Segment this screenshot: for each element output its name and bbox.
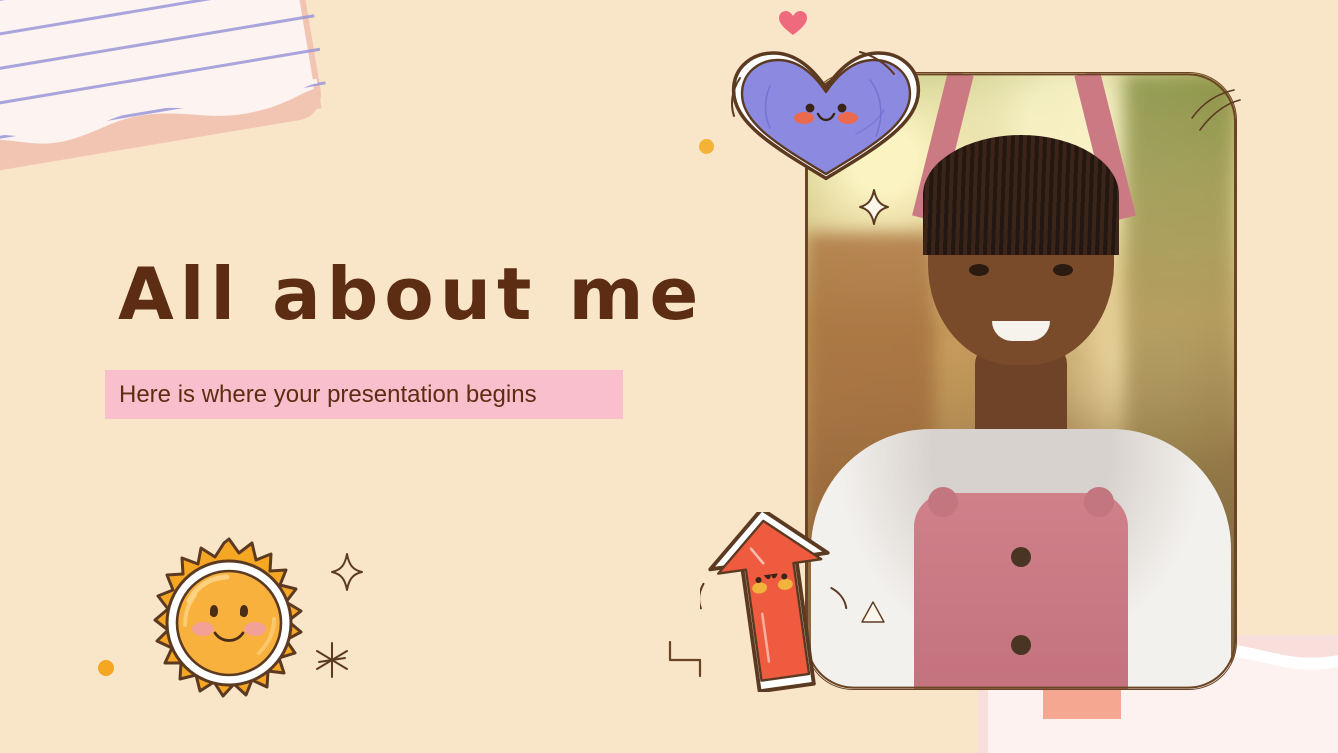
overall-button-bottom bbox=[1011, 635, 1031, 655]
overall-knot-left bbox=[928, 487, 958, 517]
sparkle-diamond-left bbox=[330, 552, 364, 592]
eye-right bbox=[1053, 264, 1073, 276]
subtitle-highlight: Here is where your presentation begins bbox=[105, 370, 623, 419]
subtitle-text: Here is where your presentation begins bbox=[105, 381, 537, 409]
eye-left bbox=[969, 264, 989, 276]
zigzag-doodle bbox=[666, 638, 718, 680]
accent-dot-top bbox=[699, 139, 714, 154]
asterisk-star-doodle bbox=[312, 640, 352, 680]
braided-hair bbox=[923, 135, 1119, 255]
kawaii-sun-doodle bbox=[136, 530, 322, 716]
triangle-marker bbox=[860, 600, 886, 624]
kawaii-arrow-sticker bbox=[700, 512, 850, 692]
mini-heart-doodle bbox=[778, 10, 808, 38]
pink-overalls bbox=[914, 493, 1128, 689]
presentation-slide: All about me Here is where your presenta… bbox=[0, 0, 1338, 753]
overall-knot-right bbox=[1084, 487, 1114, 517]
page-title: All about me bbox=[118, 258, 704, 330]
overall-button-top bbox=[1011, 547, 1031, 567]
kawaii-heart-sticker bbox=[728, 46, 924, 206]
frame-sketch-ticks bbox=[1186, 88, 1246, 144]
torn-lined-paper bbox=[0, 0, 336, 218]
sparkle-diamond-photo bbox=[858, 188, 890, 226]
accent-dot-bottom bbox=[98, 660, 114, 676]
